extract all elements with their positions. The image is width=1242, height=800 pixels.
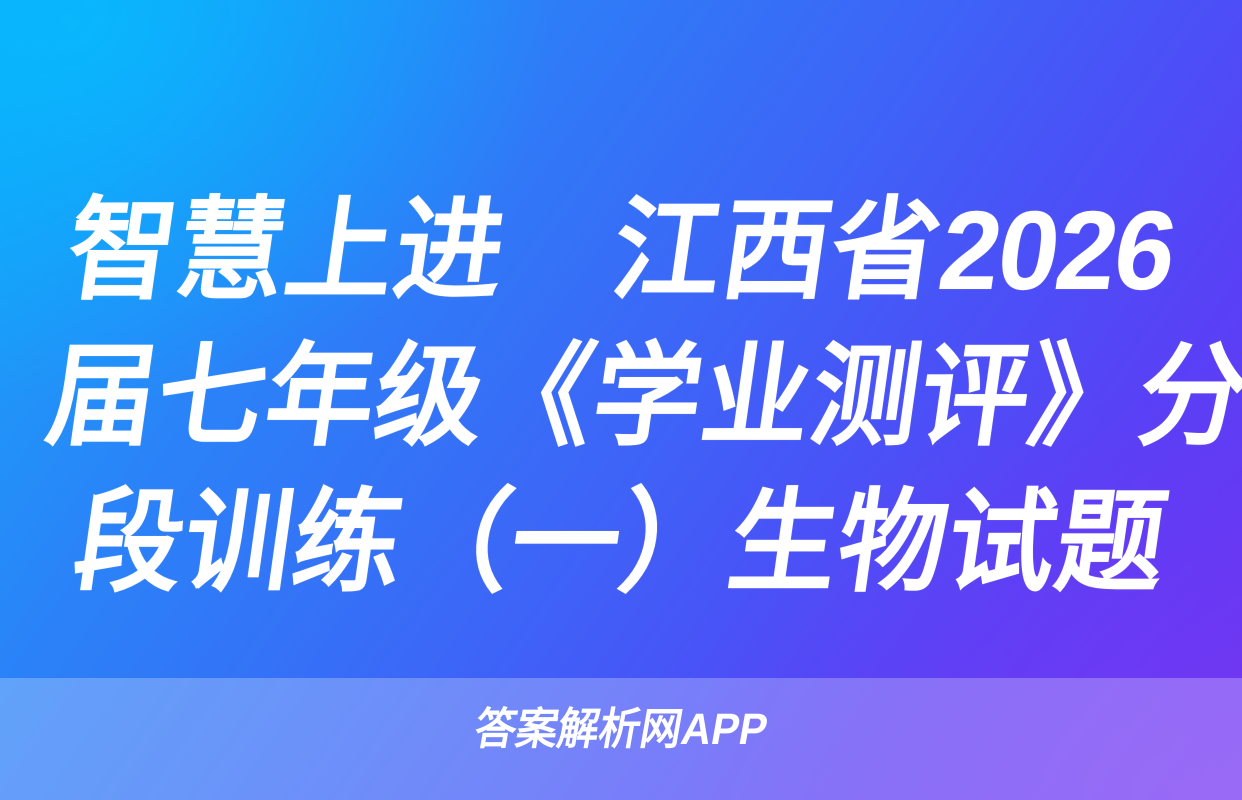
watermark-cjk: 答案解析网 [471, 705, 686, 754]
title-line-1-cjk: 智慧上进 江西省 [60, 188, 950, 313]
watermark-app-label: APP [678, 705, 772, 754]
page-title: 智慧上进 江西省2026 届七年级《学业测评》分 段训练（一）生物试题 [0, 178, 1242, 616]
title-line-3: 段训练（一）生物试题 [38, 470, 1203, 616]
poster-canvas: 智慧上进 江西省2026 届七年级《学业测评》分 段训练（一）生物试题 答案解析… [0, 0, 1242, 800]
title-line-1-year: 2026 [932, 188, 1182, 313]
watermark-brand: 答案解析网APP [32, 702, 1209, 758]
title-line-1: 智慧上进 江西省2026 [38, 178, 1203, 324]
title-line-2: 届七年级《学业测评》分 [38, 324, 1203, 470]
